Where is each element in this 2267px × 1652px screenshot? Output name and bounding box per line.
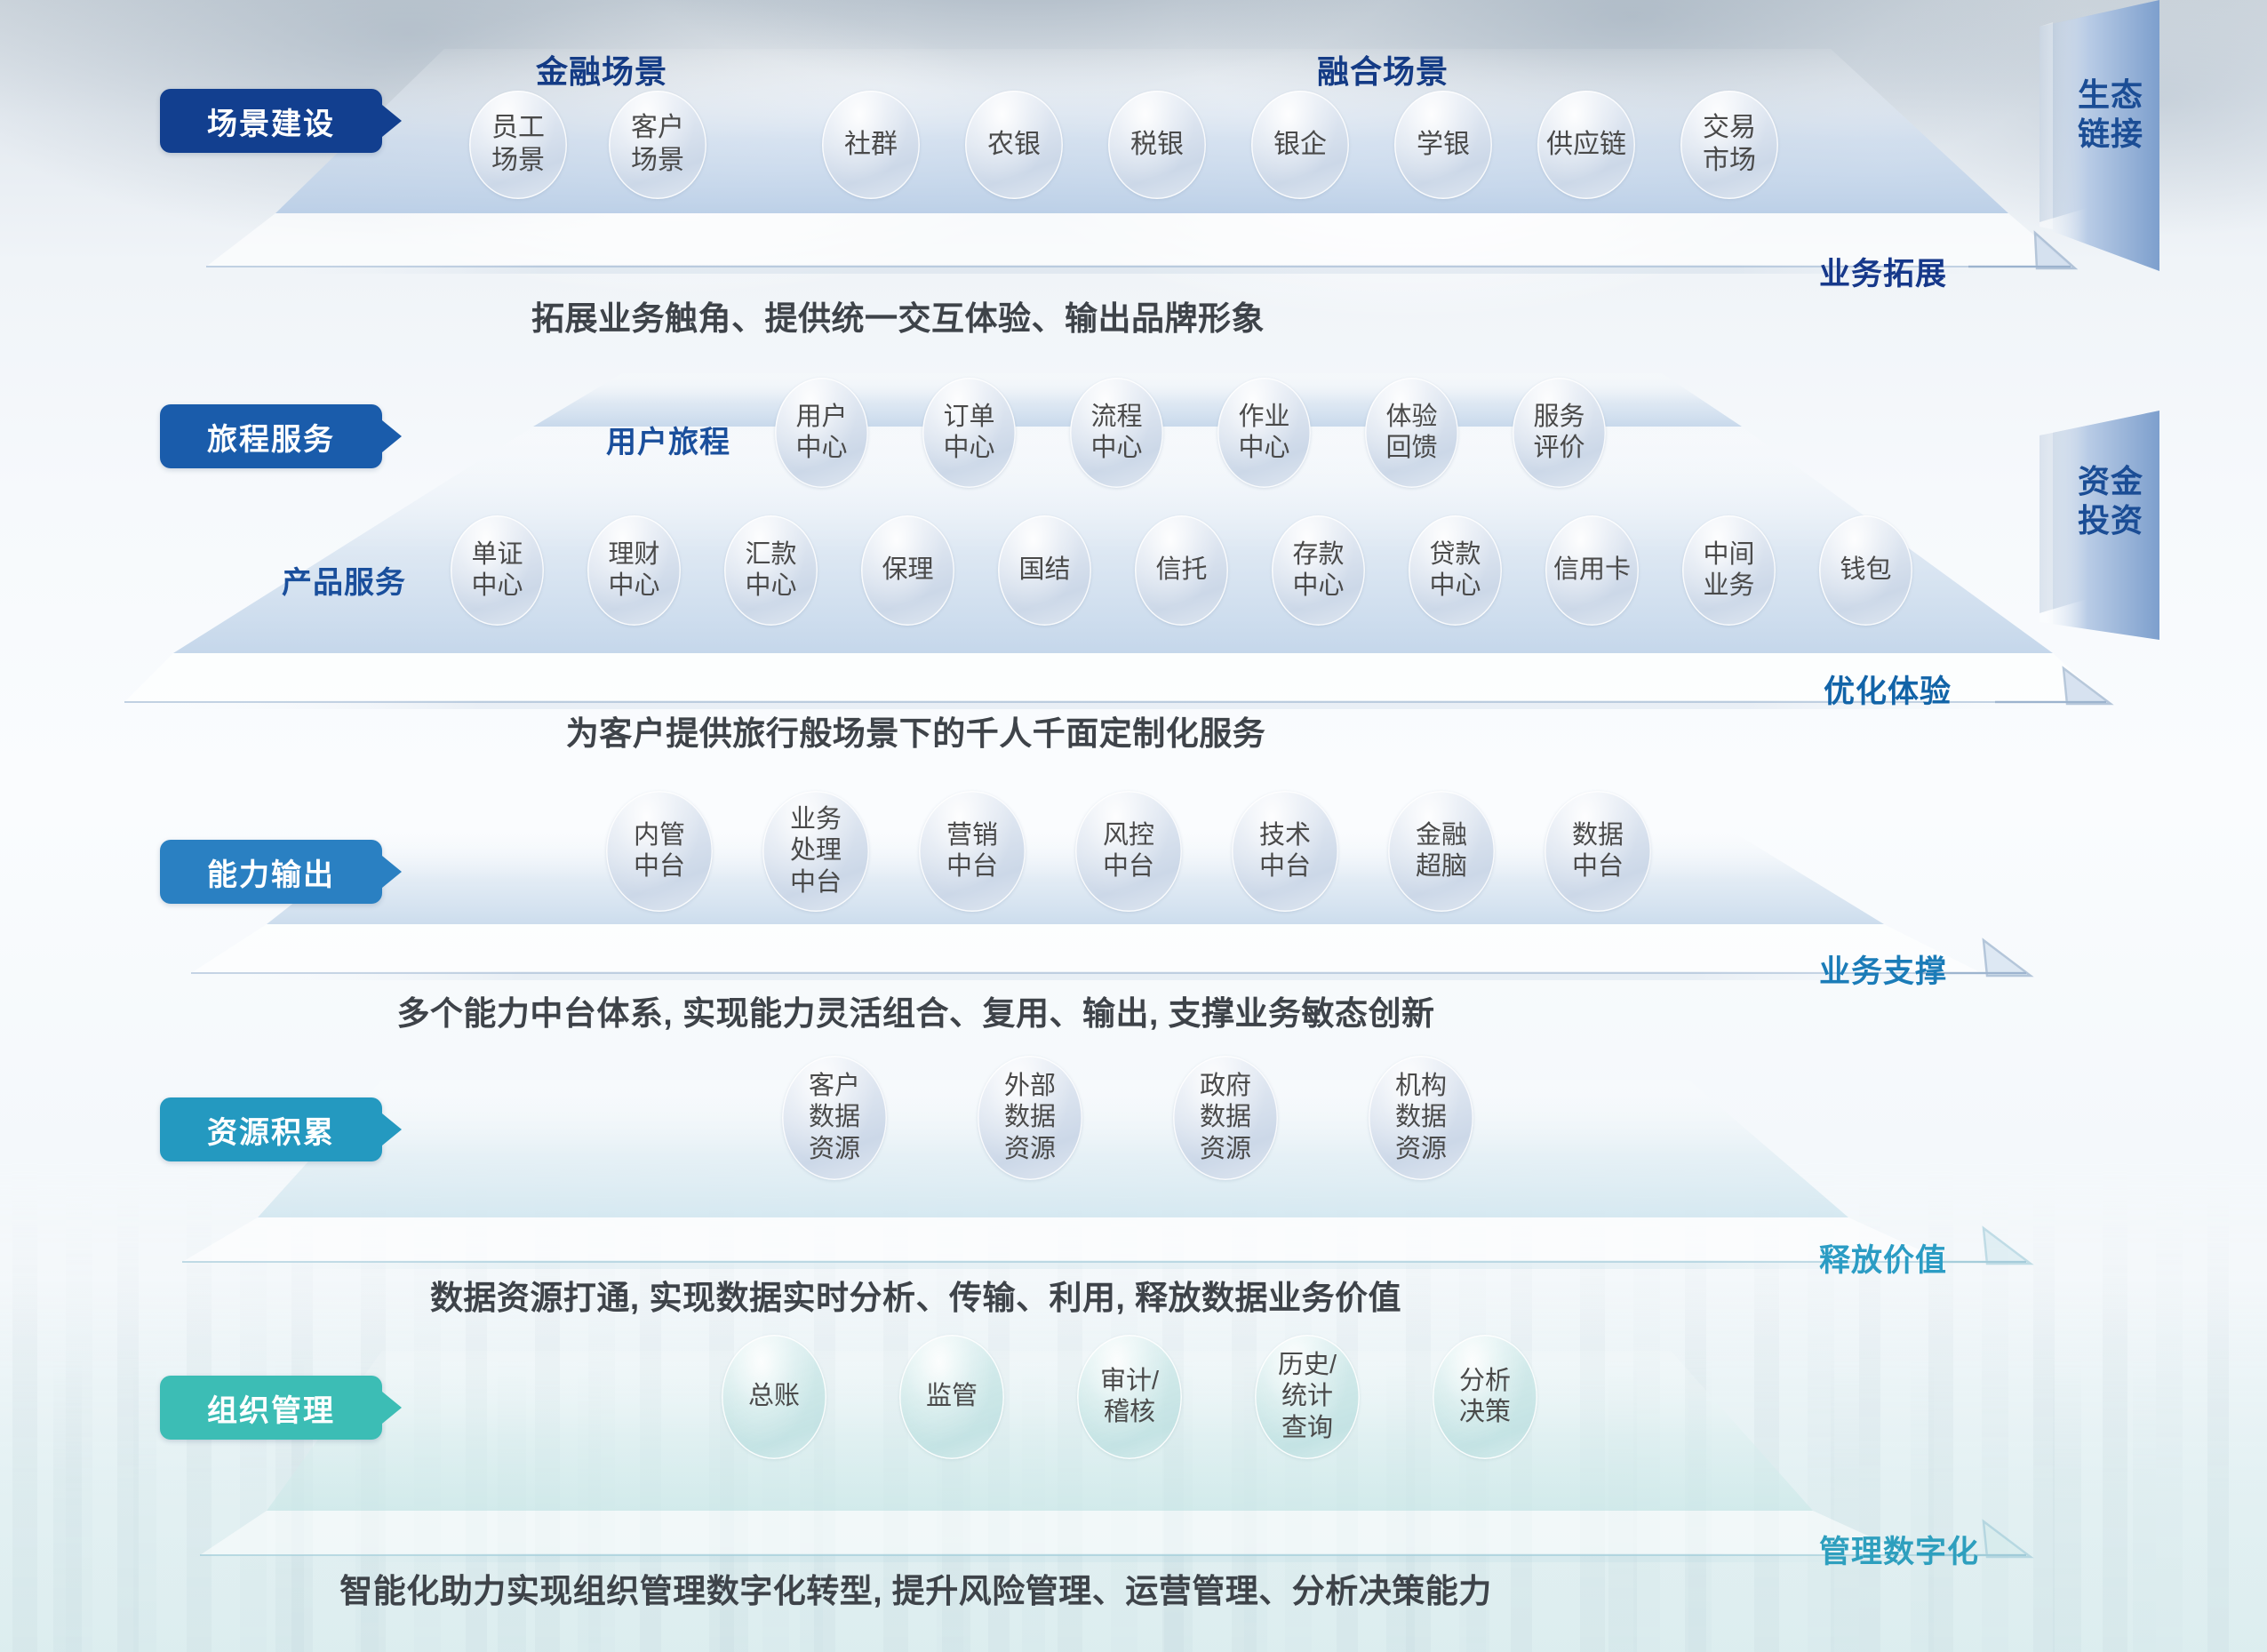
badge-capability-output[interactable]: 能力输出: [160, 840, 382, 904]
node-agri-bank[interactable]: 农银: [965, 91, 1063, 199]
node-operation-center[interactable]: 作业 中心: [1217, 378, 1311, 488]
node-marketing-platform[interactable]: 营销 中台: [919, 791, 1026, 912]
caption-organization-management: 智能化助力实现组织管理数字化转型, 提升风险管理、运营管理、分析决策能力: [0, 1564, 2049, 1612]
badge-resource-accumulation[interactable]: 资源积累: [160, 1097, 382, 1161]
node-wealth-center[interactable]: 理财 中心: [587, 515, 681, 626]
caption-resource-accumulation: 数据资源打通, 实现数据实时分析、传输、利用, 释放数据业务价值: [0, 1271, 2049, 1319]
node-external-data-resource[interactable]: 外部 数据 资源: [978, 1056, 1082, 1180]
node-employee-scene[interactable]: 员工 场景: [469, 91, 567, 199]
node-analysis-decision[interactable]: 分析 决策: [1433, 1335, 1537, 1459]
edge-tag-release-value: 释放价值: [1819, 1235, 1947, 1281]
node-community[interactable]: 社群: [822, 91, 920, 199]
node-history-statistics-query[interactable]: 历史/ 统计 查询: [1255, 1335, 1360, 1459]
node-experience-feedback[interactable]: 体验 回馈: [1365, 378, 1458, 488]
badge-organization-management[interactable]: 组织管理: [160, 1376, 382, 1440]
node-user-center[interactable]: 用户 中心: [775, 378, 868, 488]
caption-journey-service: 为客户提供旅行般场景下的千人千面定制化服务: [0, 706, 2049, 754]
node-financial-brain[interactable]: 金融 超脑: [1388, 791, 1495, 912]
node-intermediary-business[interactable]: 中间 业务: [1682, 515, 1776, 626]
ribbon-funding: 资金 投资: [0, 0, 2267, 1]
badge-journey-service[interactable]: 旅程服务: [160, 404, 382, 468]
node-general-ledger[interactable]: 总账: [722, 1335, 826, 1459]
node-factoring[interactable]: 保理: [861, 515, 954, 626]
node-school-bank[interactable]: 学银: [1394, 91, 1492, 199]
node-technology-platform[interactable]: 技术 中台: [1232, 791, 1338, 912]
section-title-fusion-scenes: 融合场景: [1317, 46, 1449, 92]
section-title-user-journey: 用户旅程: [606, 418, 730, 461]
edge-tag-business-support: 业务支撑: [1819, 946, 1947, 992]
node-tax-bank[interactable]: 税银: [1108, 91, 1206, 199]
node-data-platform[interactable]: 数据 中台: [1545, 791, 1651, 912]
node-remittance-center[interactable]: 汇款 中心: [724, 515, 818, 626]
node-audit-inspection[interactable]: 审计/ 稽核: [1077, 1335, 1182, 1459]
node-internal-mgmt-platform[interactable]: 内管 中台: [606, 791, 713, 912]
badge-scene-building[interactable]: 场景建设: [160, 89, 382, 153]
caption-scene-building: 拓展业务触角、提供统一交互体验、输出品牌形象: [0, 291, 2032, 339]
node-credit-card[interactable]: 信用卡: [1545, 515, 1639, 626]
node-bank-enterprise[interactable]: 银企: [1251, 91, 1349, 199]
node-process-center[interactable]: 流程 中心: [1070, 378, 1163, 488]
node-government-data-resource[interactable]: 政府 数据 资源: [1173, 1056, 1278, 1180]
node-customer-data-resource[interactable]: 客户 数据 资源: [782, 1056, 887, 1180]
section-title-financial-scenes: 金融场景: [536, 46, 667, 92]
node-deposit-center[interactable]: 存款 中心: [1272, 515, 1365, 626]
section-title-product-service: 产品服务: [282, 558, 406, 602]
badge-journey-service-label: 旅程服务: [207, 415, 335, 459]
badge-resource-accumulation-label: 资源积累: [207, 1108, 335, 1152]
node-loan-center[interactable]: 贷款 中心: [1409, 515, 1502, 626]
node-wallet[interactable]: 钱包: [1819, 515, 1912, 626]
ribbon-ecosystem-label: 生态 链接: [2062, 76, 2159, 154]
node-trust[interactable]: 信托: [1135, 515, 1228, 626]
node-supply-chain[interactable]: 供应链: [1537, 91, 1635, 199]
edge-tag-management-digitalization: 管理数字化: [1819, 1527, 1979, 1572]
badge-capability-output-label: 能力输出: [207, 850, 335, 894]
edge-tag-business-expansion: 业务拓展: [1819, 249, 1947, 294]
badge-organization-management-label: 组织管理: [207, 1386, 335, 1430]
node-order-center[interactable]: 订单 中心: [922, 378, 1016, 488]
edge-tag-optimize-experience: 优化体验: [1824, 666, 1952, 712]
node-supervision[interactable]: 监管: [899, 1335, 1004, 1459]
node-customer-scene[interactable]: 客户 场景: [609, 91, 706, 199]
node-business-processing-platform[interactable]: 业务 处理 中台: [762, 791, 869, 912]
node-document-center[interactable]: 单证 中心: [451, 515, 544, 626]
node-trading-market[interactable]: 交易 市场: [1680, 91, 1778, 199]
node-intl-settlement[interactable]: 国结: [998, 515, 1091, 626]
node-service-rating[interactable]: 服务 评价: [1513, 378, 1606, 488]
badge-scene-building-label: 场景建设: [207, 100, 335, 143]
ribbon-funding-label: 资金 投资: [2062, 462, 2159, 540]
caption-capability-output: 多个能力中台体系, 实现能力灵活组合、复用、输出, 支撑业务敏态创新: [0, 986, 2049, 1034]
node-risk-control-platform[interactable]: 风控 中台: [1075, 791, 1182, 912]
node-institution-data-resource[interactable]: 机构 数据 资源: [1369, 1056, 1473, 1180]
